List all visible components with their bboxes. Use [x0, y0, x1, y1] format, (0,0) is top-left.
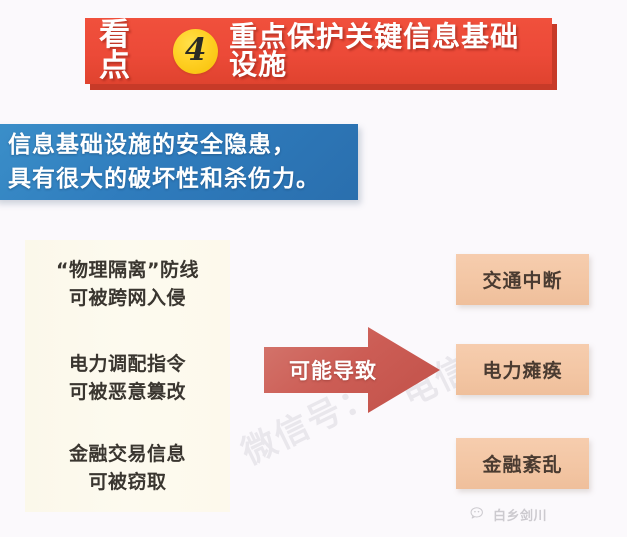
cause-line-2: 可被窃取 — [25, 468, 230, 496]
cause-line-2: 可被恶意篡改 — [25, 378, 230, 406]
statement-line-1: 信息基础设施的安全隐患， — [8, 128, 358, 162]
cause-item: 电力调配指令 可被恶意篡改 — [25, 350, 230, 406]
infographic-canvas: 微信号： 电信 看点 4 重点保护关键信息基础设施 信息基础设施的安全隐患， 具… — [0, 0, 627, 537]
cause-line-1: 金融交易信息 — [25, 440, 230, 468]
footer-attribution: 白乡剑川 — [470, 505, 547, 524]
wechat-icon — [470, 506, 487, 523]
arrow-right-icon — [264, 327, 440, 413]
cause-line-2: 可被跨网入侵 — [25, 284, 230, 312]
banner-title: 重点保护关键信息基础设施 — [229, 23, 542, 79]
banner-prefix-label: 看点 — [99, 20, 160, 82]
cause-item: 金融交易信息 可被窃取 — [25, 440, 230, 496]
statement-box: 信息基础设施的安全隐患， 具有很大的破坏性和杀伤力。 — [0, 124, 358, 200]
footer-account-name: 白乡剑川 — [493, 505, 547, 524]
cause-line-1: 电力调配指令 — [25, 350, 230, 378]
result-card-label: 金融紊乱 — [482, 450, 562, 477]
result-card: 电力瘫痪 — [456, 344, 589, 395]
cause-item: “物理隔离”防线 可被跨网入侵 — [25, 256, 230, 312]
result-card: 交通中断 — [456, 254, 589, 305]
result-card-label: 电力瘫痪 — [482, 356, 562, 383]
banner-number-text: 4 — [185, 35, 207, 68]
header-banner: 看点 4 重点保护关键信息基础设施 — [85, 18, 552, 84]
result-card-label: 交通中断 — [482, 266, 562, 293]
cause-line-1: “物理隔离”防线 — [25, 256, 230, 284]
banner-number-badge: 4 — [173, 29, 218, 74]
flow-arrow: 可能导致 — [264, 327, 440, 413]
statement-line-2: 具有很大的破坏性和杀伤力。 — [8, 162, 358, 196]
result-card: 金融紊乱 — [456, 438, 589, 489]
